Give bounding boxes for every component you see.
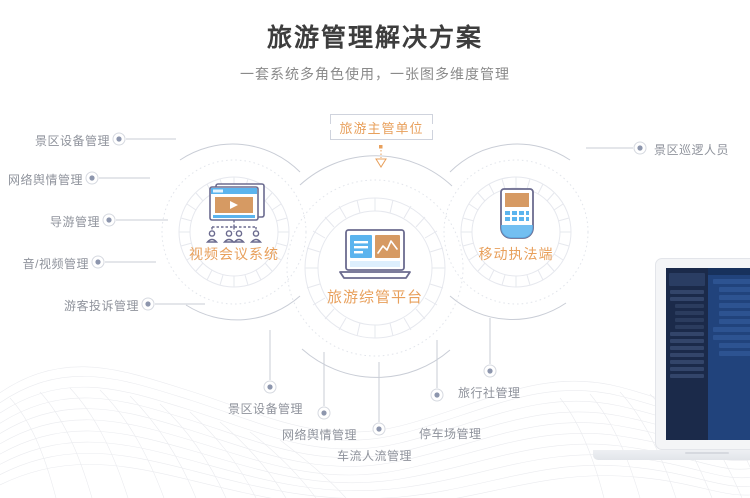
- dashboard-menu-item: [670, 367, 704, 371]
- dashboard-sidebar: [666, 268, 708, 440]
- dashboard-menu-subitem-active: [675, 311, 704, 315]
- dashboard-row: [719, 351, 750, 356]
- dashboard-menu-subitem: [675, 304, 704, 308]
- handheld-device-icon: [496, 186, 538, 244]
- dashboard-menu-item: [670, 290, 704, 294]
- laptop-lid: [655, 258, 750, 450]
- bottom-label-4[interactable]: 停车场管理: [419, 425, 482, 442]
- left-label-3[interactable]: 导游管理: [0, 213, 100, 230]
- badge-corner-tr: [423, 114, 433, 124]
- left-label-5[interactable]: 游客投诉管理: [0, 297, 139, 314]
- dashboard-menu-item: [670, 339, 704, 343]
- badge-line-bottom: [339, 139, 424, 140]
- page-title: 旅游管理解决方案: [0, 22, 750, 54]
- dashboard-menu-item: [670, 297, 704, 301]
- dashboard-menu-subitem: [675, 318, 704, 322]
- dashboard-row: [719, 343, 750, 348]
- right-connectors: [586, 142, 646, 154]
- dashboard-menu-item: [670, 374, 704, 378]
- laptop-dashboard-icon: [337, 228, 413, 286]
- bottom-label-5[interactable]: 旅行社管理: [458, 384, 521, 401]
- dashboard-menu-item: [670, 332, 704, 336]
- dashboard-menu-item: [670, 346, 704, 350]
- dashboard-row: [719, 287, 750, 292]
- laptop-base: [593, 450, 750, 460]
- left-label-2[interactable]: 网络舆情管理: [0, 171, 83, 188]
- bottom-label-3[interactable]: 车流人流管理: [337, 447, 412, 464]
- video-window-network-icon: [194, 182, 274, 244]
- bottom-label-2[interactable]: 网络舆情管理: [282, 426, 357, 443]
- page-subtitle: 一套系统多角色使用，一张图多维度管理: [0, 64, 750, 84]
- header: 旅游管理解决方案 一套系统多角色使用，一张图多维度管理: [0, 22, 750, 84]
- bottom-label-1[interactable]: 景区设备管理: [228, 400, 303, 417]
- right-label-1[interactable]: 景区巡逻人员: [654, 141, 729, 158]
- dashboard-content: [708, 268, 750, 440]
- dashboard-row: [719, 311, 750, 316]
- dashboard-row: [713, 279, 750, 284]
- badge-line-top: [339, 114, 424, 115]
- dashboard-row: [719, 295, 750, 300]
- dashboard-row: [719, 303, 750, 308]
- dashboard-row: [713, 327, 750, 332]
- node-label-tourism-platform: 旅游综管平台: [315, 286, 435, 307]
- dashboard-topbar: [708, 268, 750, 275]
- badge-label: 旅游主管单位: [339, 118, 423, 137]
- node-label-mobile-enforcement: 移动执法端: [466, 244, 566, 264]
- laptop-mockup: [655, 258, 750, 463]
- dashboard-menu-item: [670, 353, 704, 357]
- dashboard-row: [719, 319, 750, 324]
- badge-corner-tl: [330, 114, 340, 124]
- badge-tourism-authority[interactable]: 旅游主管单位: [330, 114, 433, 140]
- badge-corner-br: [423, 130, 433, 140]
- infographic-canvas: 旅游管理解决方案 一套系统多角色使用，一张图多维度管理 旅游主管单位: [0, 0, 750, 498]
- left-label-1[interactable]: 景区设备管理: [0, 132, 110, 149]
- left-label-4[interactable]: 音/视频管理: [0, 255, 89, 272]
- dashboard-row: [713, 335, 750, 340]
- dashboard-screenshot: [666, 268, 750, 440]
- dashboard-menu-subitem: [675, 325, 704, 329]
- dashboard-logo: [669, 273, 705, 286]
- node-label-video-conference: 视频会议系统: [174, 244, 294, 264]
- dashboard-menu-item: [670, 360, 704, 364]
